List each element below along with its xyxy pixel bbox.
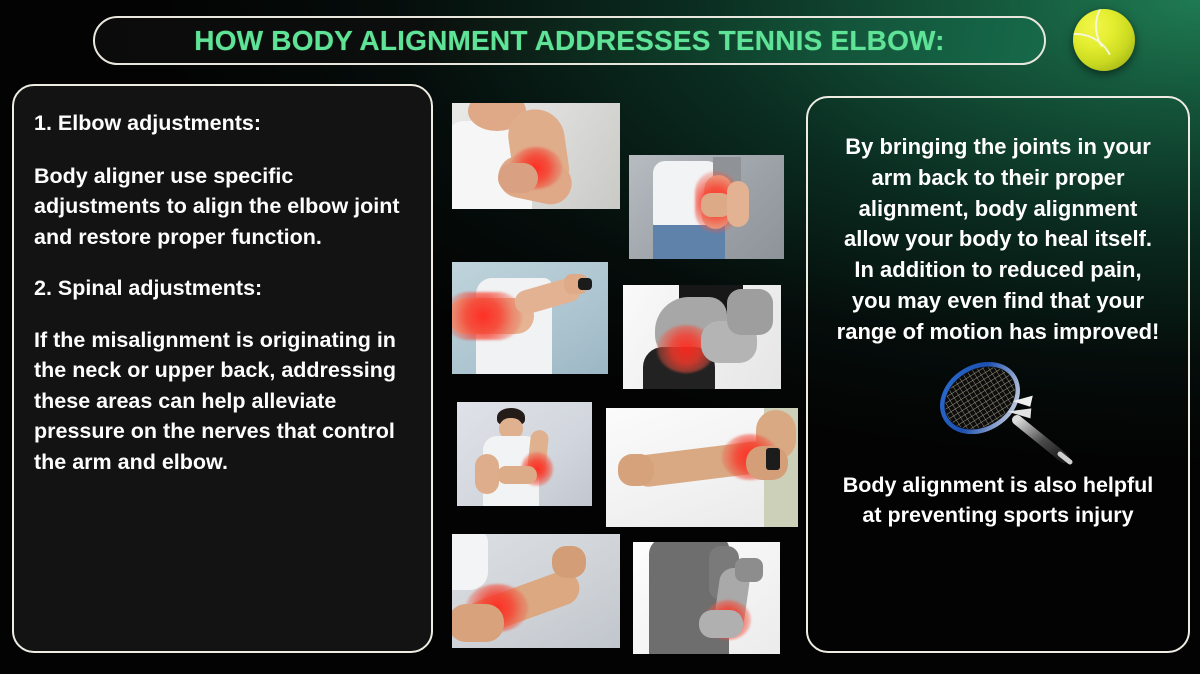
- right-card-content: By bringing the joints in your arm back …: [808, 98, 1188, 651]
- photo-8-hand: [699, 610, 743, 638]
- gallery-photo-7: [452, 534, 620, 648]
- tennis-ball-icon: [1073, 9, 1135, 71]
- page-title-banner: HOW BODY ALIGNMENT ADDRESSES TENNIS ELBO…: [93, 16, 1046, 65]
- gallery-photo-8: [633, 542, 780, 654]
- right-paragraph-1: By bringing the joints in your arm back …: [832, 132, 1164, 348]
- photo-5-hand: [497, 466, 537, 484]
- gallery-photo-6: [606, 408, 798, 527]
- photo-1-hand: [498, 163, 538, 193]
- left-heading-1: 1. Elbow adjustments:: [34, 108, 411, 139]
- left-info-card: 1. Elbow adjustments: Body aligner use s…: [12, 84, 433, 653]
- photo-8-fist: [735, 558, 763, 582]
- infographic-canvas: HOW BODY ALIGNMENT ADDRESSES TENNIS ELBO…: [0, 0, 1200, 674]
- photo-6-fist: [618, 454, 654, 486]
- gallery-photo-5: [457, 402, 592, 506]
- photo-7-supporting-hand: [452, 604, 504, 642]
- gallery-photo-4: [623, 285, 781, 389]
- right-paragraph-2: Body alignment is also helpful at preven…: [832, 470, 1164, 530]
- left-body-1: Body aligner use specific adjustments to…: [34, 161, 411, 253]
- left-card-content: 1. Elbow adjustments: Body aligner use s…: [14, 86, 431, 651]
- gallery-photo-1: [452, 103, 620, 209]
- left-heading-2: 2. Spinal adjustments:: [34, 273, 411, 304]
- gallery-photo-2: [629, 155, 784, 259]
- gallery-photo-3: [452, 262, 608, 374]
- page-title: HOW BODY ALIGNMENT ADDRESSES TENNIS ELBO…: [194, 25, 944, 57]
- photo-3-object: [578, 278, 592, 290]
- tennis-racket-icon: [828, 350, 1168, 470]
- right-info-card: By bringing the joints in your arm back …: [806, 96, 1190, 653]
- photo-5-left-arm: [475, 454, 499, 494]
- photo-4-forearm: [727, 289, 773, 335]
- photo-7-shirt: [452, 534, 488, 590]
- photo-2-other-arm: [727, 181, 749, 227]
- photo-3-pain-highlight: [452, 292, 522, 340]
- photo-6-watch: [766, 448, 780, 470]
- photo-7-fist: [552, 546, 586, 578]
- left-card-text: 1. Elbow adjustments: Body aligner use s…: [34, 108, 411, 477]
- left-body-2: If the misalignment is originating in th…: [34, 325, 411, 478]
